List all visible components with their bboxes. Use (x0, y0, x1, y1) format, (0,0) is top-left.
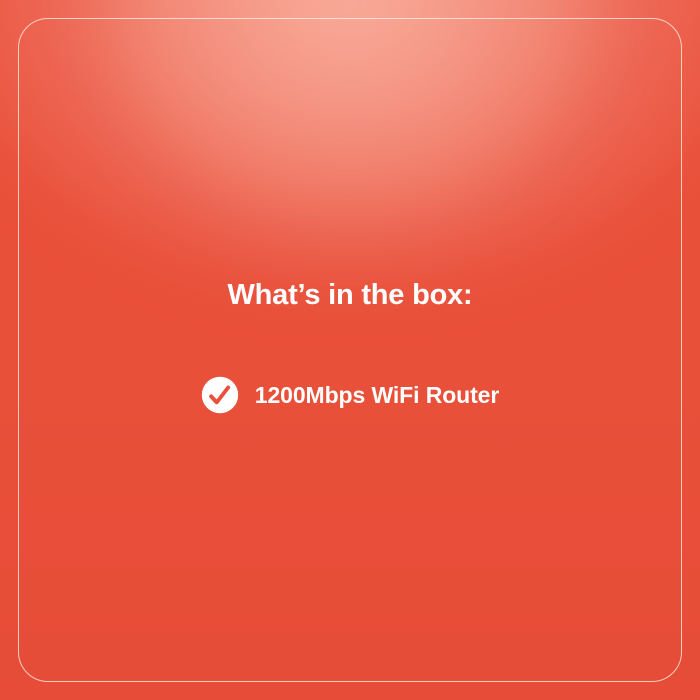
box-contents-list: 1200Mbps WiFi Router (0, 376, 700, 414)
list-item: 1200Mbps WiFi Router (201, 376, 499, 414)
card-content: What’s in the box: 1200Mbps WiFi Router (0, 0, 700, 700)
list-item-label: 1200Mbps WiFi Router (255, 382, 499, 409)
check-circle-icon (201, 376, 239, 414)
page-title: What’s in the box: (0, 279, 700, 312)
whats-in-the-box-card: What’s in the box: 1200Mbps WiFi Router (0, 0, 700, 700)
